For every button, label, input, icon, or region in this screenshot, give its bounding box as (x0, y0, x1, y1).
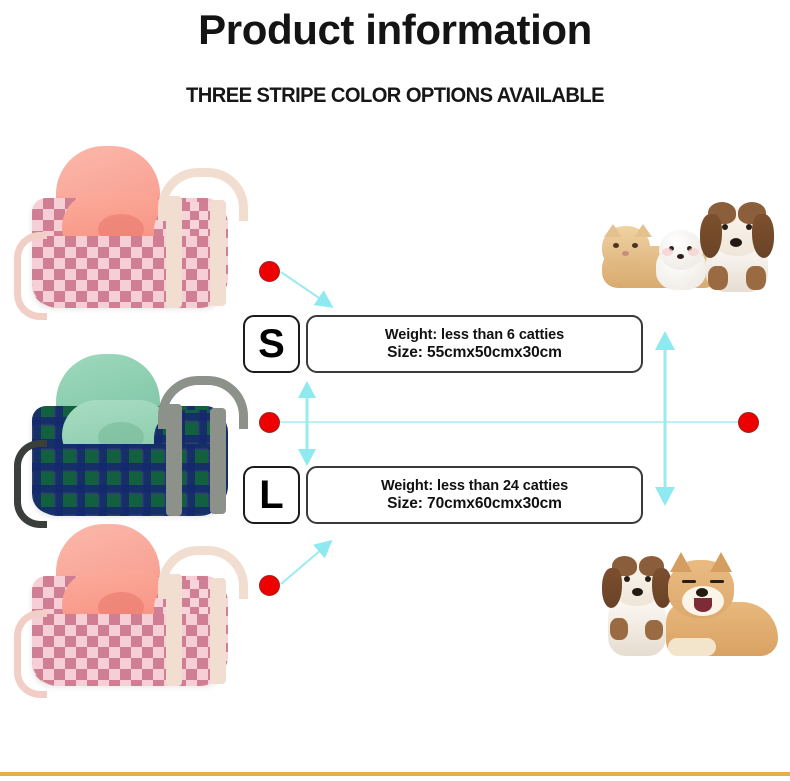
carrier-shoulder-strap (14, 232, 47, 320)
arrow-to-s-box (281, 272, 322, 300)
beagle-eye-right (746, 224, 752, 230)
cat-nose (622, 251, 629, 256)
callout-dot-middle[interactable] (259, 412, 280, 433)
spec-box-l: Weight: less than 24 catties Size: 70cmx… (306, 466, 643, 524)
carrier-front-panel (32, 236, 222, 308)
shiba-ear-right (710, 552, 732, 572)
spec-l-dimensions: Size: 70cmx60cmx30cm (387, 495, 562, 513)
spec-s-dimensions: Size: 55cmx50cmx30cm (387, 344, 562, 362)
size-badge-s: S (243, 315, 300, 373)
shiba-tongue (694, 598, 712, 612)
carrier-front-panel (32, 444, 222, 516)
callout-dot-large[interactable] (259, 575, 280, 596)
size-badge-l-letter: L (259, 475, 283, 515)
carrier-shoulder-strap (14, 610, 47, 698)
pet-photo-beagle-shiba (590, 546, 786, 662)
spec-s-weight: Weight: less than 6 catties (385, 327, 564, 343)
shiba-eye-right (710, 580, 724, 583)
beagle-patch-body-2 (746, 266, 766, 290)
beagle-eye-left (624, 576, 630, 582)
pet-photo-cat-pomeranian-beagle (596, 196, 782, 292)
beagle-nose (632, 588, 643, 596)
carrier-strap-b (210, 200, 226, 306)
beagle-eye-right (645, 576, 651, 582)
carrier-strap-a (166, 404, 182, 516)
beagle-patch-right (645, 620, 663, 640)
spec-l-weight: Weight: less than 24 catties (381, 478, 568, 494)
shiba-front-paws (668, 638, 716, 656)
carrier-shoulder-strap (14, 440, 47, 528)
callout-dot-right[interactable] (738, 412, 759, 433)
product-image-green-carrier (6, 348, 238, 523)
shiba-ear-left (670, 552, 692, 572)
product-image-pink-carrier-top (6, 140, 238, 315)
arrow-down-left (298, 449, 316, 466)
shiba-eye-left (682, 580, 696, 583)
arrow-up-left (298, 381, 316, 398)
carrier-strap-b (210, 578, 226, 684)
carrier-strap-b (210, 408, 226, 514)
page-title: Product information (0, 6, 790, 54)
cat-ear-left (604, 224, 622, 237)
beagle-ear-right (752, 214, 774, 258)
callout-dot-small[interactable] (259, 261, 280, 282)
size-badge-s-letter: S (258, 324, 285, 364)
product-image-pink-carrier-bottom (6, 518, 238, 693)
cat-eye-right (632, 243, 638, 248)
carrier-strap-a (166, 196, 182, 308)
cat-eye-left (613, 243, 619, 248)
size-badge-l: L (243, 466, 300, 524)
arrow-to-l-box (281, 549, 322, 584)
carrier-front-panel (32, 614, 222, 686)
pomeranian-cheek-left (662, 248, 673, 256)
shiba-nose (696, 588, 708, 597)
arrow-up-right (655, 331, 675, 350)
bottom-gold-divider (0, 772, 790, 776)
carrier-strap-a (166, 574, 182, 686)
pomeranian-nose (677, 254, 684, 259)
spec-box-s: Weight: less than 6 catties Size: 55cmx5… (306, 315, 643, 373)
page-subtitle: THREE STRIPE COLOR OPTIONS AVAILABLE (16, 84, 774, 108)
pomeranian-cheek-right (688, 248, 699, 256)
beagle-patch-left (610, 618, 628, 640)
beagle-nose (730, 238, 742, 247)
beagle-patch-body (708, 266, 728, 290)
arrow-down-right (655, 487, 675, 506)
infographic-canvas: Product information THREE STRIPE COLOR O… (0, 0, 790, 781)
beagle-eye-left (722, 224, 728, 230)
cat-ear-right (634, 224, 652, 237)
